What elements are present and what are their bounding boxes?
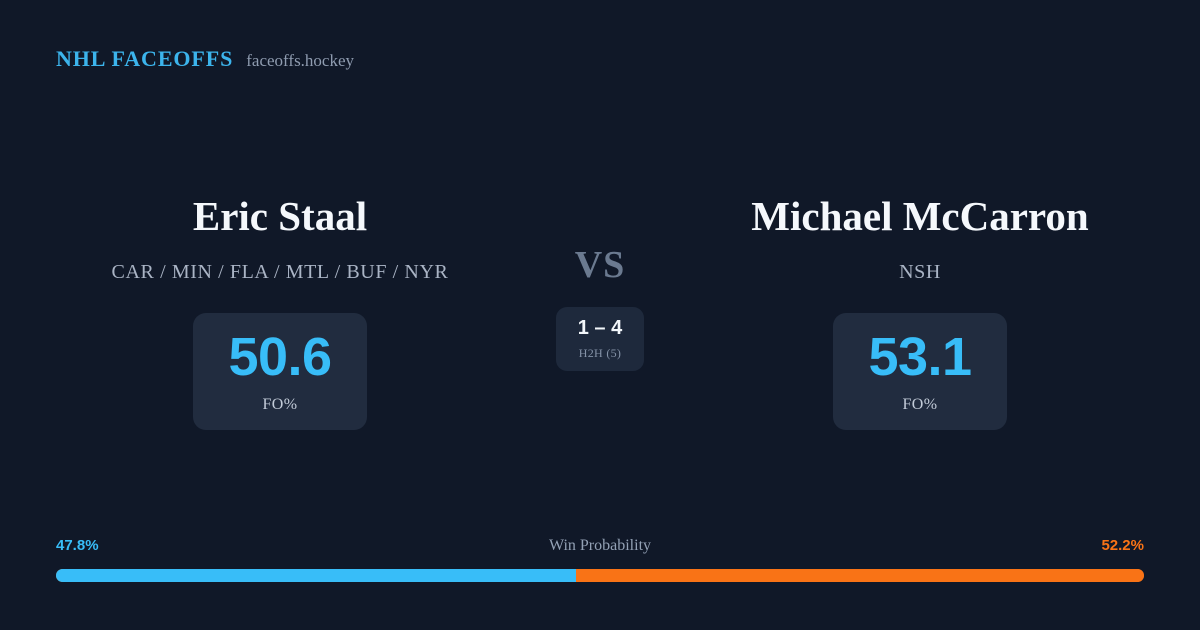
faceoff-stat-card: 53.1 FO%: [833, 313, 1007, 430]
win-probability-section: 47.8% Win Probability 52.2%: [56, 537, 1144, 582]
player-name: Michael McCarron: [751, 196, 1088, 237]
brand-title: NHL FACEOFFS: [56, 46, 233, 72]
faceoff-stat-card: 50.6 FO%: [193, 313, 367, 430]
win-probability-labels: 47.8% Win Probability 52.2%: [56, 537, 1144, 557]
brand-domain: faceoffs.hockey: [246, 51, 354, 71]
player-name: Eric Staal: [193, 196, 367, 237]
head-to-head-score: 1 – 4: [578, 318, 622, 338]
versus-column: VS 1 – 4 H2H (5): [520, 196, 680, 371]
win-probability-bar: [56, 569, 1144, 582]
faceoff-percentage-label: FO%: [903, 396, 938, 414]
win-probability-right-value: 52.2%: [1101, 537, 1144, 554]
faceoff-percentage-value: 53.1: [868, 330, 971, 384]
player-column-left: Eric Staal CAR / MIN / FLA / MTL / BUF /…: [40, 196, 520, 430]
win-probability-left-value: 47.8%: [56, 537, 99, 554]
player-teams: NSH: [899, 261, 941, 284]
win-probability-bar-right-fill: [576, 569, 1144, 582]
player-column-right: Michael McCarron NSH 53.1 FO%: [680, 196, 1160, 430]
versus-label: VS: [575, 246, 626, 284]
win-probability-title: Win Probability: [549, 537, 651, 555]
site-header: NHL FACEOFFS faceoffs.hockey: [56, 46, 354, 72]
faceoff-percentage-value: 50.6: [228, 330, 331, 384]
player-teams: CAR / MIN / FLA / MTL / BUF / NYR: [112, 261, 449, 284]
head-to-head-badge: 1 – 4 H2H (5): [556, 307, 644, 371]
win-probability-bar-left-fill: [56, 569, 576, 582]
head-to-head-label: H2H (5): [579, 346, 621, 361]
matchup-section: Eric Staal CAR / MIN / FLA / MTL / BUF /…: [0, 196, 1200, 430]
faceoff-percentage-label: FO%: [263, 396, 298, 414]
